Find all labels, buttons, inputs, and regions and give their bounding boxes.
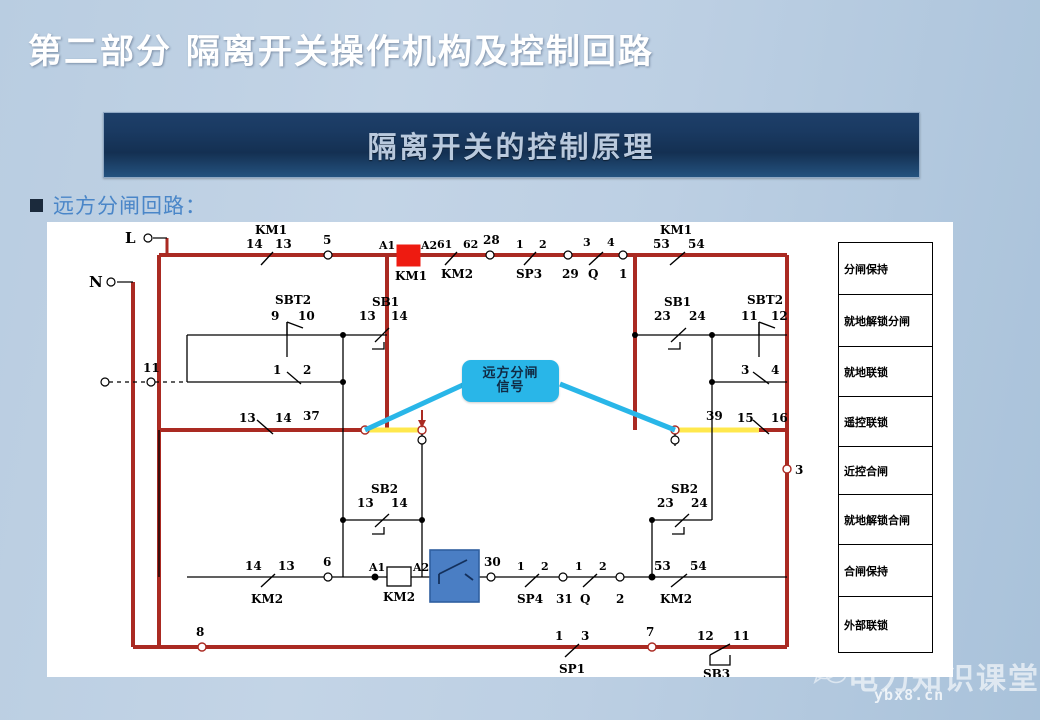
node-5: 5 xyxy=(323,233,331,247)
function-label-7: 外部联锁 xyxy=(839,597,932,653)
contact-km2-bottom-13: 13 xyxy=(278,559,295,573)
function-label-6: 合闸保持 xyxy=(839,545,932,597)
contact-sb2-right-24: 24 xyxy=(691,496,708,510)
node-7: 7 xyxy=(646,625,654,639)
function-label-0: 分闸保持 xyxy=(839,243,932,295)
contact-sb3-label: SB3 xyxy=(703,667,730,677)
callout-remote-open-signal: 远方分闸 信号 xyxy=(462,360,559,402)
contact-sp1-label: SP1 xyxy=(559,662,585,676)
bullet-label: 远方分闸回路： xyxy=(53,190,207,220)
contact-km2-bottom-label: KM2 xyxy=(251,592,283,606)
contact-sb2-left-label: SB2 xyxy=(371,482,398,496)
contact-aux-3: 3 xyxy=(741,363,749,377)
function-label-5: 就地解锁合闸 xyxy=(839,495,932,545)
contact-sb1-13: 13 xyxy=(359,309,376,323)
contact-km2-54: 54 xyxy=(690,559,707,573)
contact-km2-61: 61 xyxy=(437,238,452,251)
bullet-square-icon xyxy=(30,199,43,212)
contact-q-4: 4 xyxy=(607,236,615,249)
contact-sp4-label: SP4 xyxy=(517,592,543,606)
watermark-url: ybx8.cn xyxy=(874,686,944,704)
node-29: 29 xyxy=(562,267,579,281)
contact-sb1-right-label: SB1 xyxy=(664,295,691,309)
contact-sp4-2: 2 xyxy=(541,560,549,573)
banner-title: 隔离开关的控制原理 xyxy=(367,124,655,166)
circuit-schematic: N L 14 13 KM1 5 A1 A2 KM1 61 62 KM2 28 1… xyxy=(47,222,953,677)
contact-sbt2-10: 10 xyxy=(298,309,315,323)
contact-km2-53-label: KM2 xyxy=(660,592,692,606)
contact-sb2-left-13: 13 xyxy=(357,496,374,510)
contact-km1-top-left-num: 14 xyxy=(246,237,263,251)
node-39: 39 xyxy=(706,409,723,423)
contact-sb1-left-label: SB1 xyxy=(372,295,399,309)
contact-sb1-23: 23 xyxy=(654,309,671,323)
node-31: 31 xyxy=(556,592,573,606)
contact-km1-53: 53 xyxy=(653,237,670,251)
contact-mid-13: 13 xyxy=(239,411,256,425)
contact-sb3-11: 11 xyxy=(733,629,750,643)
contact-km1-top-label: KM1 xyxy=(255,223,287,237)
contact-km1-54: 54 xyxy=(688,237,705,251)
contact-km2-53: 53 xyxy=(654,559,671,573)
contact-aux-1: 1 xyxy=(273,363,281,377)
contact-sp1-1: 1 xyxy=(555,629,563,643)
relay-timer-box xyxy=(430,550,479,602)
function-label-1: 就地解锁分闸 xyxy=(839,295,932,347)
contact-q-bottom-label: Q xyxy=(580,592,590,606)
coil-km1-A1: A1 xyxy=(378,239,395,252)
contact-q-3: 3 xyxy=(583,236,591,249)
contact-sp3-label: SP3 xyxy=(516,267,542,281)
node-30: 30 xyxy=(484,555,501,569)
contact-sbt2r-11: 11 xyxy=(741,309,758,323)
callout-line-1: 远方分闸 xyxy=(482,367,538,381)
node-3-right: 3 xyxy=(795,463,803,477)
page-title: 第二部分 隔离开关操作机构及控制回路 xyxy=(28,24,654,73)
contact-sb1-14: 14 xyxy=(391,309,408,323)
contact-sp1-3: 3 xyxy=(581,629,589,643)
contact-q-bottom-2: 2 xyxy=(599,560,607,573)
coil-km1-A2: A2 xyxy=(420,239,437,252)
contact-sbt2r-12: 12 xyxy=(771,309,788,323)
bullet-heading: 远方分闸回路： xyxy=(30,190,207,220)
node-37: 37 xyxy=(303,409,320,423)
callout-line-2: 信号 xyxy=(496,381,524,395)
contact-km2-bottom-14: 14 xyxy=(245,559,262,573)
coil-km1-label: KM1 xyxy=(395,269,427,283)
function-label-3: 遥控联锁 xyxy=(839,397,932,447)
contact-aux-15: 15 xyxy=(737,411,754,425)
contact-aux-16: 16 xyxy=(771,411,788,425)
contact-sp3-1: 1 xyxy=(516,238,524,251)
terminal-L: L xyxy=(125,229,136,247)
contact-q-top-label: Q xyxy=(588,267,598,281)
function-label-column: 分闸保持就地解锁分闸就地联锁遥控联锁近控合闸就地解锁合闸合闸保持外部联锁 xyxy=(838,242,933,653)
coil-km2-A2: A2 xyxy=(412,561,429,574)
node-2: 2 xyxy=(616,592,624,606)
contact-sbt2-left-label: SBT2 xyxy=(275,293,311,307)
terminal-N: N xyxy=(89,273,103,291)
function-label-4: 近控合闸 xyxy=(839,447,932,495)
node-11-left: 11 xyxy=(143,361,160,375)
coil-km2-label: KM2 xyxy=(383,590,415,604)
contact-sb2-right-label: SB2 xyxy=(671,482,698,496)
contact-q-bottom-1: 1 xyxy=(575,560,583,573)
contact-km1-bottom-label: KM1 xyxy=(660,223,692,237)
contact-km2-62: 62 xyxy=(463,238,478,251)
contact-sbt2-right-label: SBT2 xyxy=(747,293,783,307)
contact-mid-14: 14 xyxy=(275,411,292,425)
contact-aux-4: 4 xyxy=(771,363,779,377)
section-banner: 隔离开关的控制原理 xyxy=(103,112,920,178)
contact-sp4-1: 1 xyxy=(517,560,525,573)
circuit-diagram-panel: N L 14 13 KM1 5 A1 A2 KM1 61 62 KM2 28 1… xyxy=(47,222,953,677)
contact-km2-top-label: KM2 xyxy=(441,267,473,281)
coil-km2-A1: A1 xyxy=(368,561,385,574)
contact-km1-top-right-num: 13 xyxy=(275,237,292,251)
contact-aux-2: 2 xyxy=(303,363,311,377)
node-28: 28 xyxy=(483,233,500,247)
contact-sb1-24: 24 xyxy=(689,309,706,323)
node-6: 6 xyxy=(323,555,331,569)
contact-sb2-left-14: 14 xyxy=(391,496,408,510)
contact-sb3-12: 12 xyxy=(697,629,714,643)
contact-sb2-right-23: 23 xyxy=(657,496,674,510)
function-label-2: 就地联锁 xyxy=(839,347,932,397)
contact-sbt2-9: 9 xyxy=(271,309,279,323)
contact-sp3-2: 2 xyxy=(539,238,547,251)
node-8: 8 xyxy=(196,625,204,639)
node-1: 1 xyxy=(619,267,627,281)
